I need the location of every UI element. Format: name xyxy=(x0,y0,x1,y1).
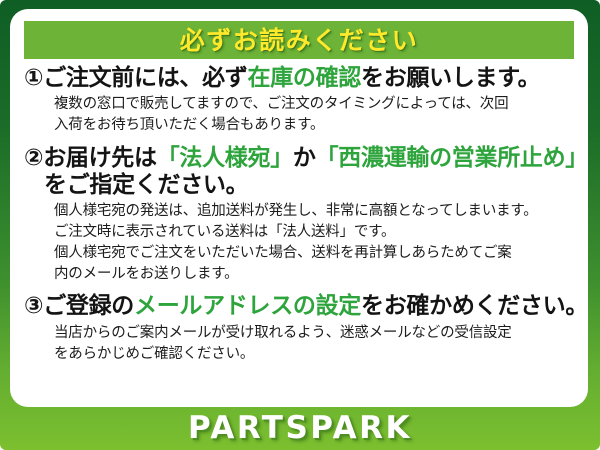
notice-item-1-number: ① xyxy=(24,65,43,91)
notice-item-2-sub-line-3: 個人様宅宛でご注文をいただいた場合、送料を再計算しあらためてご案 xyxy=(24,243,580,264)
notice-title-bar: 必ずお読みください xyxy=(24,21,574,59)
notice-item-3-sub-line-2: をあらかじめご確認ください。 xyxy=(24,344,580,365)
notice-item-2-head-part-3: か xyxy=(293,145,316,171)
brand-footer: PARTSPARK xyxy=(0,407,600,450)
notice-item-1-sub-line-2: 入荷をお待ち頂いただく場合もあります。 xyxy=(24,115,580,136)
notice-item-2-head-highlight-1: 「法人様宛」 xyxy=(157,145,293,171)
notice-item-2-head-part-1: お届け先は xyxy=(43,145,157,171)
notice-item-2-heading-continuation: をご指定ください。 xyxy=(24,172,580,199)
notice-banner: 必ずお読みください ①ご注文前には、必ず在庫の確認をお願いします。 複数の窓口で… xyxy=(0,0,600,450)
notice-title: 必ずお読みください xyxy=(180,28,419,53)
notice-item-2-sub-line-2: ご注文時に表示されている送料は「法人送料」です。 xyxy=(24,222,580,243)
notice-item-3-head-highlight: メールアドレスの設定 xyxy=(134,293,361,319)
notice-item-3-number: ③ xyxy=(24,293,43,319)
notice-item-2-head-highlight-2: 「西濃運輸の営業所止め」 xyxy=(316,145,588,171)
notice-item-2-heading: ②お届け先は「法人様宛」か「西濃運輸の営業所止め」 をご指定ください。 xyxy=(24,145,580,199)
notice-item-1-head-part-3: をお願いします。 xyxy=(361,65,540,91)
notice-item-2-sub-line-4: 内のメールをお送りします。 xyxy=(24,264,580,285)
notice-item-3-head-part-1: ご登録の xyxy=(43,293,134,319)
spacer-1 xyxy=(10,136,588,145)
notice-item-2-number: ② xyxy=(24,145,43,171)
notice-item-1-sub-line-1: 複数の窓口で販売してますので、ご注文のタイミングによっては、次回 xyxy=(24,94,580,115)
notice-item-1: ①ご注文前には、必ず在庫の確認をお願いします。 複数の窓口で販売してますので、ご… xyxy=(10,65,588,136)
notice-item-3: ③ご登録のメールアドレスの設定をお確かめください。 当店からのご案内メールが受け… xyxy=(10,293,588,364)
notice-item-1-head-highlight: 在庫の確認 xyxy=(248,65,362,91)
notice-item-3-sub-line-1: 当店からのご案内メールが受け取れるよう、迷惑メールなどの受信設定 xyxy=(24,323,580,344)
notice-items: ①ご注文前には、必ず在庫の確認をお願いします。 複数の窓口で販売してますので、ご… xyxy=(10,65,588,365)
notice-item-1-heading: ①ご注文前には、必ず在庫の確認をお願いします。 xyxy=(24,65,580,92)
brand-name: PARTSPARK xyxy=(188,413,412,444)
notice-item-2-sub-line-1: 個人様宅宛の発送は、追加送料が発生し、非常に高額となってしまいます。 xyxy=(24,201,580,222)
notice-item-1-head-part-1: ご注文前には、必ず xyxy=(43,65,247,91)
notice-card: 必ずお読みください ①ご注文前には、必ず在庫の確認をお願いします。 複数の窓口で… xyxy=(10,9,588,407)
notice-item-3-head-part-3: をお確かめください。 xyxy=(361,293,588,319)
notice-item-3-heading: ③ご登録のメールアドレスの設定をお確かめください。 xyxy=(24,293,580,320)
notice-item-2: ②お届け先は「法人様宛」か「西濃運輸の営業所止め」 をご指定ください。 個人様宅… xyxy=(10,145,588,285)
